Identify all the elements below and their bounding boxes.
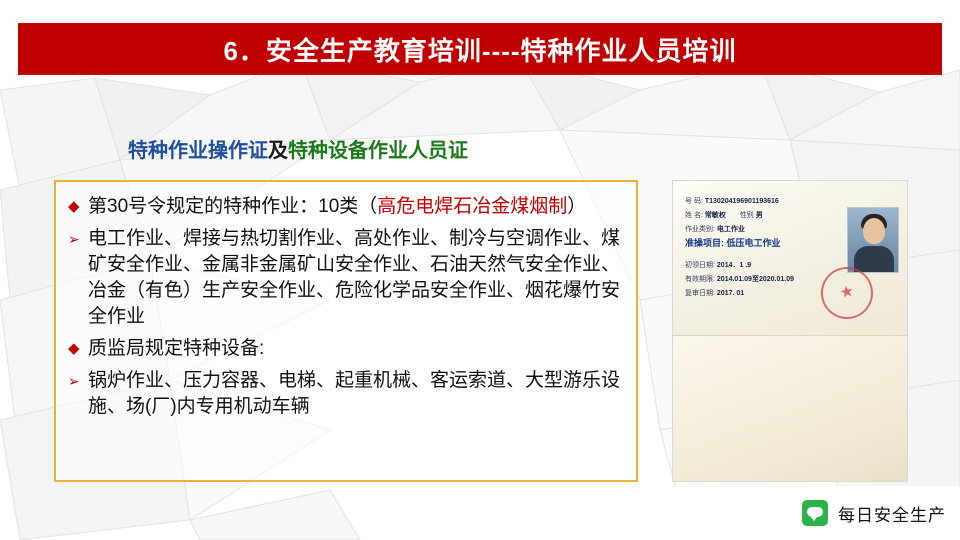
content-line: ➢ 锅炉作业、压力容器、电梯、起重机械、客运索道、大型游乐设施、场(厂)内专用机… — [68, 368, 626, 420]
cert-gender-label: 性别 — [740, 212, 754, 219]
content-line-text: 锅炉作业、压力容器、电梯、起重机械、客运索道、大型游乐设施、场(厂)内专用机动车… — [88, 368, 626, 420]
section-subtitle: 特种作业操作证及特种设备作业人员证 — [128, 134, 468, 163]
diamond-bullet-icon: ◆ — [68, 194, 88, 220]
cert-review-row: 复审日期: 2017. 01 — [685, 289, 744, 298]
slide-title: 6．安全生产教育培训----特种作业人员培训 — [223, 31, 736, 68]
brand-footer: 每日安全生产 — [644, 486, 960, 540]
photo-head — [863, 218, 885, 244]
cert-valid-label: 有效期限: — [685, 276, 715, 283]
content-line: ➢ 电工作业、焊接与热切割作业、高处作业、制冷与空调作业、煤矿安全作业、金属非金… — [68, 226, 626, 330]
cert-category-label: 作业类别: — [685, 226, 715, 233]
arrow-bullet-icon: ➢ — [68, 368, 88, 394]
brand-name: 每日安全生产 — [838, 501, 946, 526]
cert-item-value: 低压电工作业 — [727, 238, 781, 248]
content-line-text: 质监局规定特种设备: — [88, 336, 626, 362]
cert-item-label: 准操项目: — [685, 238, 724, 248]
content-line: ◆ 第30号令规定的特种作业：10类（高危电焊石冶金煤烟制） — [68, 194, 626, 220]
cert-issue-row: 初领日期: 2014．1 .9 — [685, 261, 751, 270]
cert-valid-value: 2014.01.09至2020.01.09 — [717, 276, 794, 283]
cert-number-value: T130204196901193616 — [705, 198, 779, 205]
stamp-star-icon: ★ — [838, 284, 855, 303]
content-line: ◆ 质监局规定特种设备: — [68, 336, 626, 362]
cert-number-row: 号 码: T130204196901193616 — [685, 197, 779, 206]
subtitle-part-2: 及 — [268, 140, 288, 162]
line-text-red: 高危电焊石冶金煤烟制 — [377, 196, 567, 217]
slide-title-bar: 6．安全生产教育培训----特种作业人员培训 — [18, 23, 942, 75]
wechat-account-icon — [802, 500, 828, 526]
content-box: ◆ 第30号令规定的特种作业：10类（高危电焊石冶金煤烟制） ➢ 电工作业、焊接… — [54, 180, 638, 482]
line-text-tail: ） — [567, 196, 586, 217]
slide-root: 6．安全生产教育培训----特种作业人员培训 特种作业操作证及特种设备作业人员证… — [0, 0, 960, 540]
cert-issue-value: 2014．1 .9 — [717, 262, 751, 269]
cert-review-label: 复审日期: — [685, 290, 715, 297]
certificate-cover: ★ 中华人民共和国 特种作业操作证 复审记录 国家安全生产监督管理总局制 SAW… — [673, 336, 908, 482]
cert-issue-label: 初领日期: — [685, 262, 715, 269]
diamond-bullet-icon: ◆ — [68, 336, 88, 362]
cert-gender-value: 男 — [756, 212, 763, 219]
cert-item-row: 准操项目: 低压电工作业 — [685, 239, 781, 248]
subtitle-part-1: 特种作业操作证 — [128, 140, 268, 162]
arrow-bullet-icon: ➢ — [68, 226, 88, 252]
cert-name-label: 姓 名: — [685, 212, 703, 219]
cert-review-value: 2017. 01 — [717, 290, 744, 297]
certificate-photo: 号 码: T130204196901193616 姓 名: 常敏权 性别 男 作… — [672, 180, 908, 482]
line-text-black: 第30号令规定的特种作业：10类（ — [88, 196, 377, 217]
certificate-inner-page: 号 码: T130204196901193616 姓 名: 常敏权 性别 男 作… — [673, 181, 908, 336]
photo-body — [854, 246, 894, 273]
cert-name-row: 姓 名: 常敏权 性别 男 — [685, 211, 763, 220]
cert-number-label: 号 码: — [685, 198, 703, 205]
content-line-text: 电工作业、焊接与热切割作业、高处作业、制冷与空调作业、煤矿安全作业、金属非金属矿… — [88, 226, 626, 330]
subtitle-part-3: 特种设备作业人员证 — [288, 140, 468, 162]
content-line-text: 第30号令规定的特种作业：10类（高危电焊石冶金煤烟制） — [88, 194, 626, 220]
cert-category-value: 电工作业 — [717, 226, 745, 233]
certificate-holder-photo — [847, 207, 899, 273]
cert-name-value: 常敏权 — [705, 212, 726, 219]
cert-valid-row: 有效期限: 2014.01.09至2020.01.09 — [685, 275, 794, 284]
cert-category-row: 作业类别: 电工作业 — [685, 225, 745, 234]
